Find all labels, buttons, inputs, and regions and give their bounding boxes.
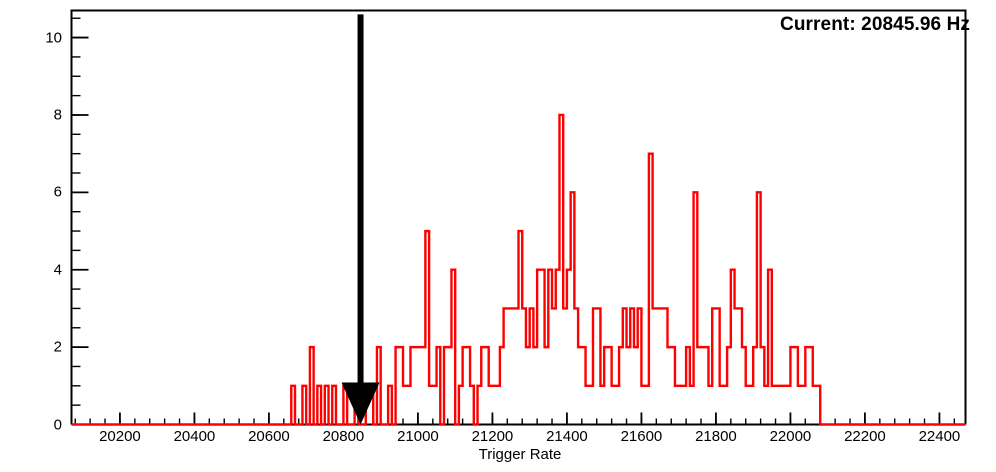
x-tick-label: 20200 xyxy=(99,428,141,445)
y-tick-label: 8 xyxy=(20,106,62,123)
y-tick-label: 6 xyxy=(20,184,62,201)
y-tick-label: 10 xyxy=(20,29,62,46)
x-tick-label: 20600 xyxy=(248,428,290,445)
x-tick-label: 21000 xyxy=(397,428,439,445)
y-tick-label: 2 xyxy=(20,339,62,356)
y-tick-label: 4 xyxy=(20,261,62,278)
y-tick-label: 0 xyxy=(20,416,62,433)
trigger-rate-histogram[interactable] xyxy=(0,0,996,472)
x-tick-label: 22200 xyxy=(844,428,886,445)
histogram-canvas: Current: 20845.96 Hz Trigger Rate 202002… xyxy=(0,0,996,472)
x-tick-label: 20400 xyxy=(174,428,216,445)
x-tick-label: 21200 xyxy=(472,428,514,445)
page-title: Current: 20845.96 Hz xyxy=(780,14,970,36)
x-axis-title-label: Trigger Rate xyxy=(479,446,562,463)
x-tick-label: 21400 xyxy=(546,428,588,445)
x-tick-label: 22400 xyxy=(919,428,961,445)
x-tick-label: 22000 xyxy=(770,428,812,445)
x-tick-label: 21800 xyxy=(695,428,737,445)
x-axis-title: Trigger Rate xyxy=(0,446,996,463)
canvas-background xyxy=(0,0,996,472)
x-tick-label: 20800 xyxy=(323,428,365,445)
x-tick-label: 21600 xyxy=(621,428,663,445)
